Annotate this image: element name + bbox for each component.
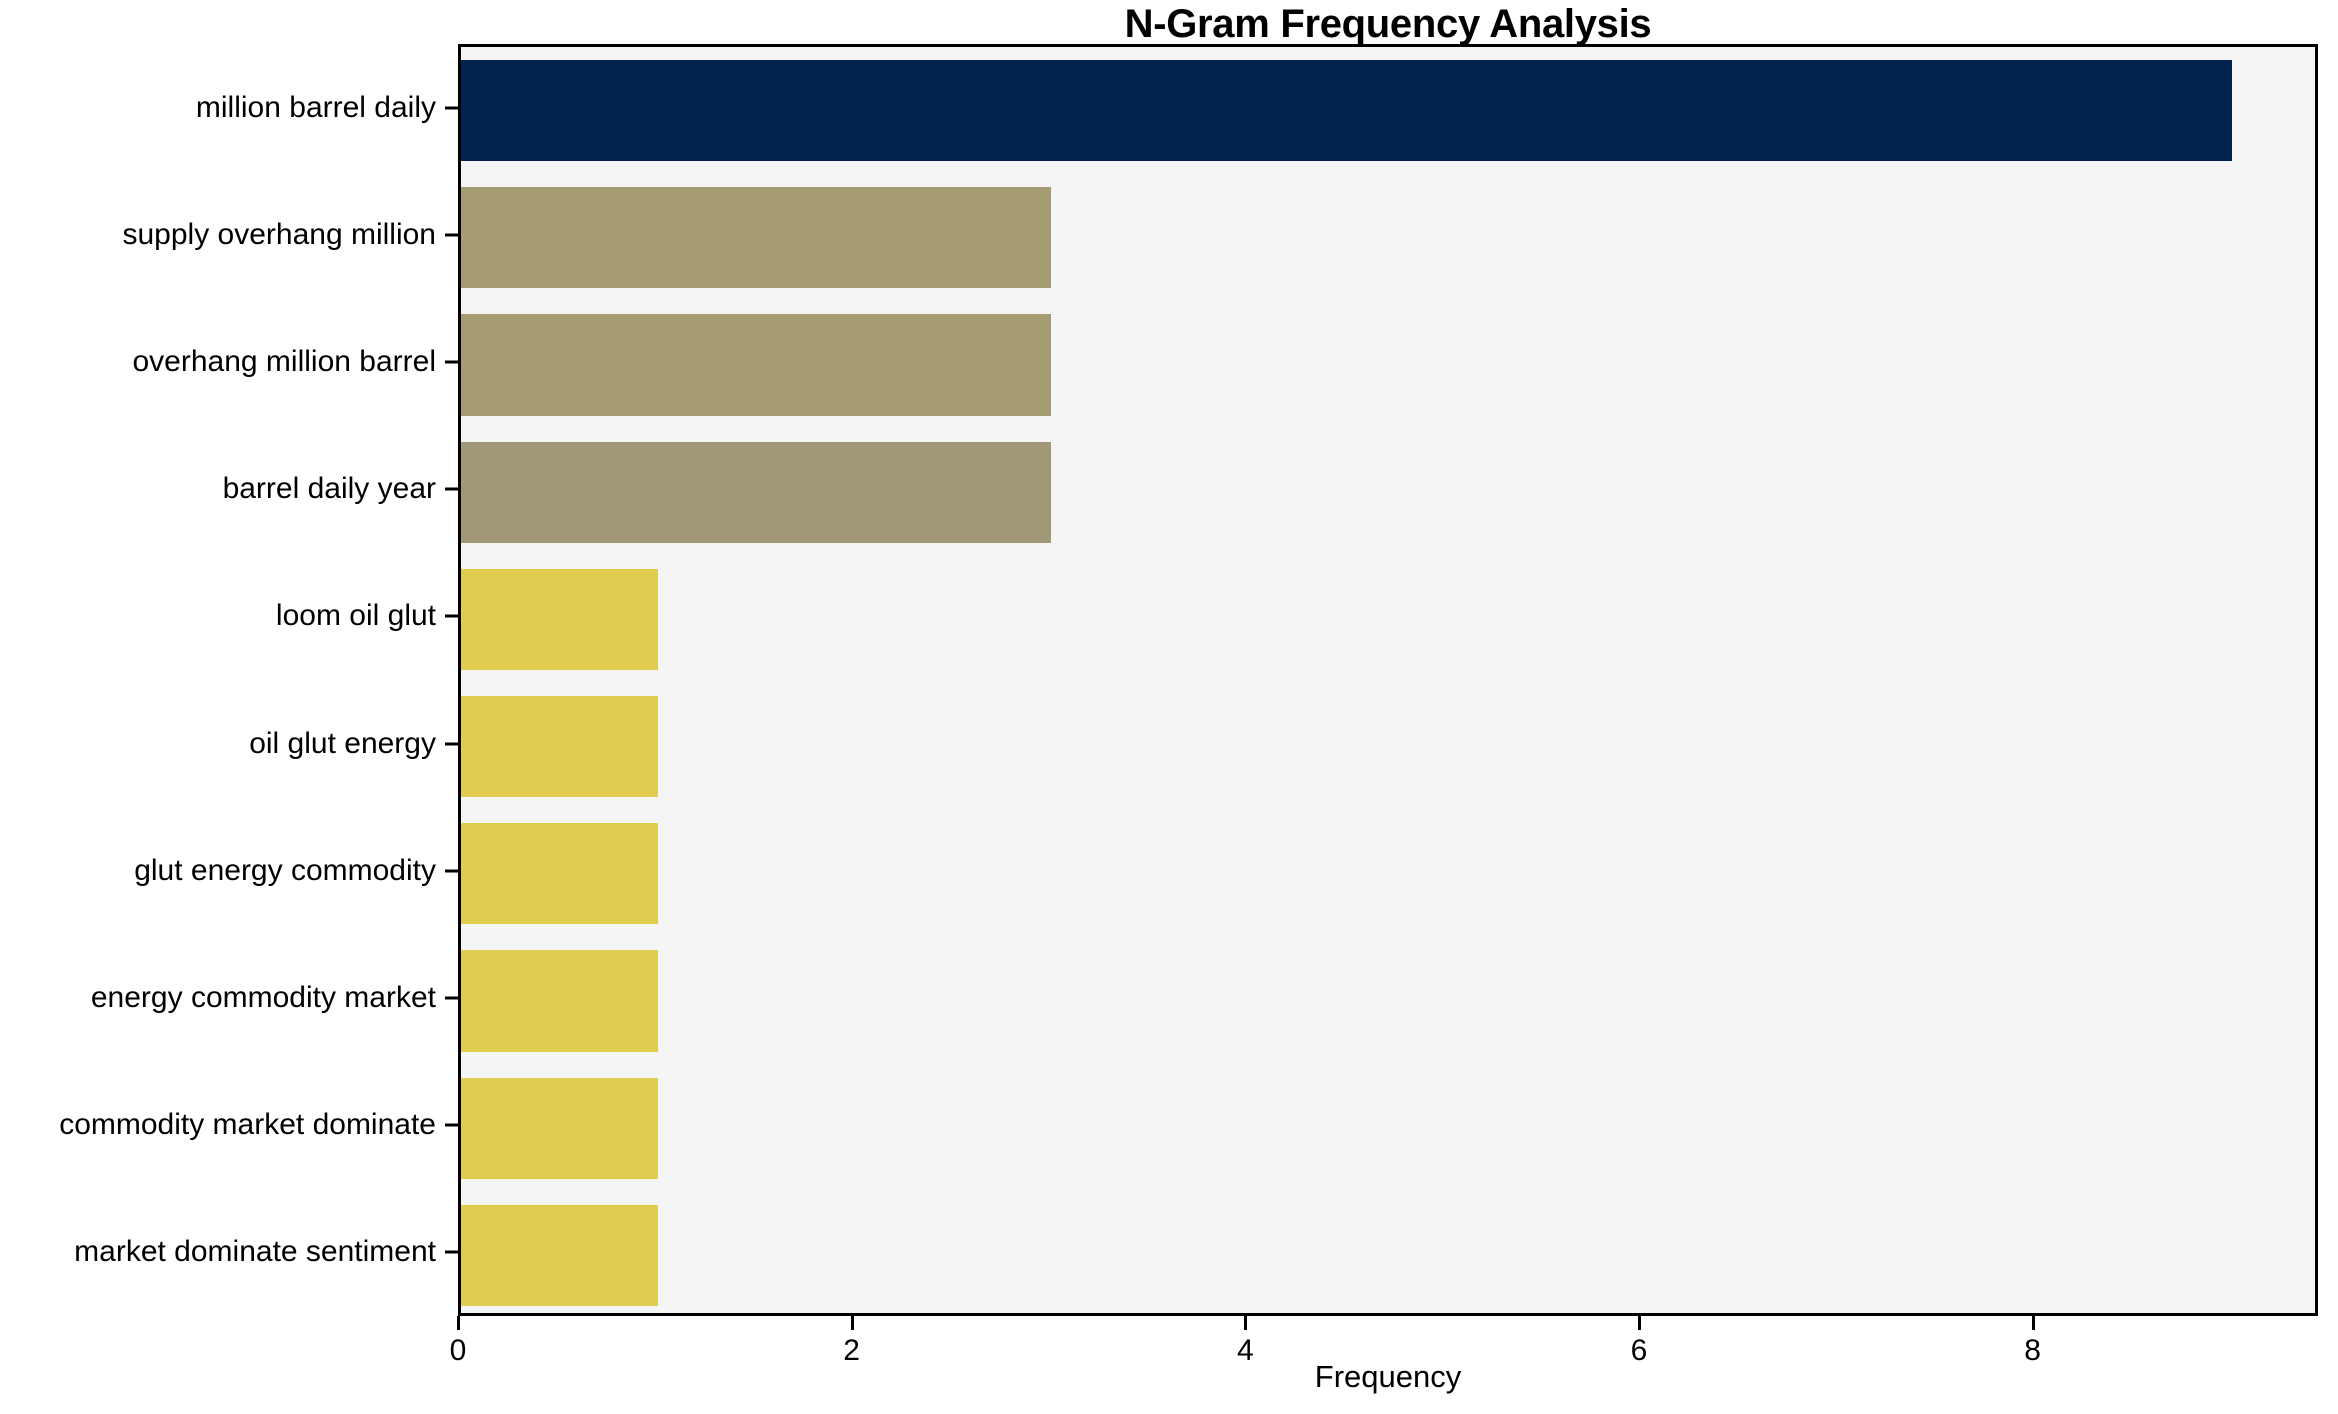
chart-figure: N-Gram Frequency Analysis million barrel… xyxy=(0,0,2338,1414)
x-tick-mark xyxy=(2032,1316,2035,1330)
y-tick-label: glut energy commodity xyxy=(134,854,436,888)
bars-layer xyxy=(461,47,2315,1313)
y-tick-mark xyxy=(445,1124,458,1127)
x-tick-mark xyxy=(1244,1316,1247,1330)
bar xyxy=(461,823,658,924)
bar xyxy=(461,1078,658,1179)
y-tick-label: market dominate sentiment xyxy=(74,1235,436,1269)
y-tick-mark xyxy=(445,361,458,364)
bar xyxy=(461,1205,658,1306)
x-tick-mark xyxy=(457,1316,460,1330)
y-axis: million barrel dailysupply overhang mill… xyxy=(0,44,458,1316)
y-tick-mark xyxy=(445,615,458,618)
bar xyxy=(461,187,1051,288)
x-axis-title: Frequency xyxy=(458,1359,2318,1395)
y-tick-mark xyxy=(445,488,458,491)
y-tick-label: overhang million barrel xyxy=(133,345,437,379)
y-tick-mark xyxy=(445,233,458,236)
y-tick-label: loom oil glut xyxy=(276,599,436,633)
y-tick-mark xyxy=(445,869,458,872)
x-tick-mark xyxy=(851,1316,854,1330)
bar xyxy=(461,696,658,797)
y-tick-mark xyxy=(445,997,458,1000)
y-tick-label: barrel daily year xyxy=(223,472,436,506)
x-tick-mark xyxy=(1638,1316,1641,1330)
bar xyxy=(461,569,658,670)
y-tick-mark xyxy=(445,106,458,109)
y-tick-label: energy commodity market xyxy=(91,981,436,1015)
bar xyxy=(461,314,1051,415)
y-tick-label: oil glut energy xyxy=(249,727,436,761)
chart-title: N-Gram Frequency Analysis xyxy=(458,2,2318,47)
y-tick-mark xyxy=(445,742,458,745)
y-tick-label: million barrel daily xyxy=(196,91,436,125)
plot-area xyxy=(458,44,2318,1316)
y-tick-mark xyxy=(445,1251,458,1254)
bar xyxy=(461,950,658,1051)
bar xyxy=(461,60,2232,161)
y-tick-label: supply overhang million xyxy=(122,218,436,252)
y-tick-label: commodity market dominate xyxy=(59,1108,436,1142)
bar xyxy=(461,442,1051,543)
